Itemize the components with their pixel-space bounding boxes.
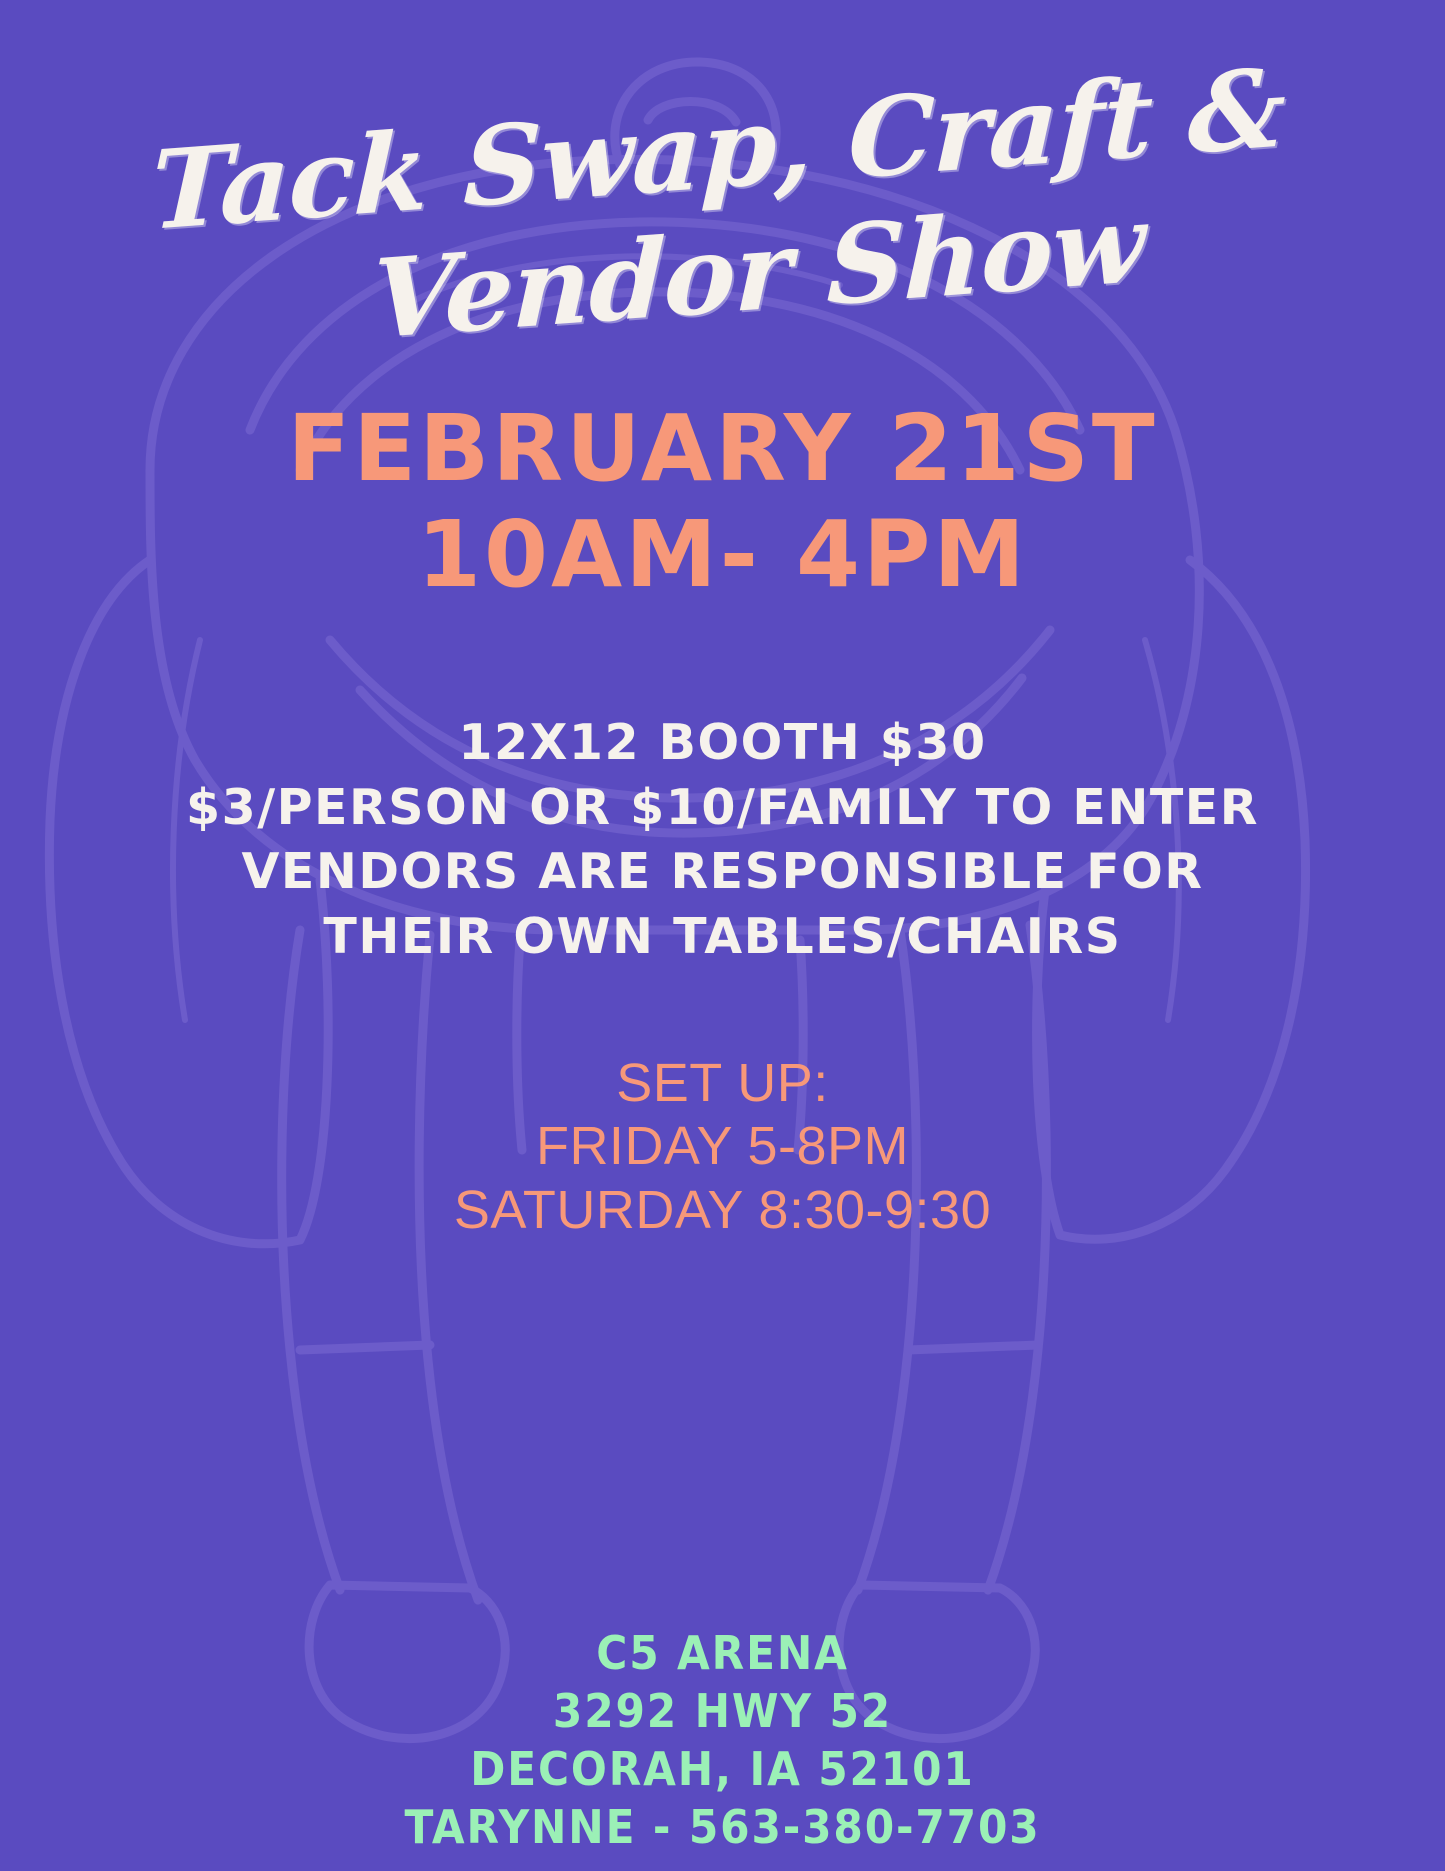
contact-block: C5 ARENA 3292 HWY 52 DECORAH, IA 52101 T… [0,1625,1445,1857]
contact-phone[interactable]: TARYNNE - 563-380-7703 [58,1799,1387,1857]
event-time: 10AM- 4PM [287,506,1157,604]
contact-city-state-zip: DECORAH, IA 52101 [58,1741,1387,1799]
contact-street: 3292 HWY 52 [58,1683,1387,1741]
flyer-root: Tack Swap, Craft & Vendor Show FEBRUARY … [0,0,1445,1871]
setup-saturday: SATURDAY 8:30-9:30 [454,1179,991,1243]
event-date: FEBRUARY 21ST [287,400,1157,498]
detail-line-booth-price: 12X12 BOOTH $30 [186,711,1259,776]
detail-line-vendor-responsibility-1: VENDORS ARE RESPONSIBLE FOR [186,840,1259,905]
setup-heading: SET UP: [454,1052,991,1116]
detail-line-entry-price: $3/PERSON OR $10/FAMILY TO ENTER [186,776,1259,841]
title-block: Tack Swap, Craft & Vendor Show [143,96,1303,326]
setup-block: SET UP: FRIDAY 5-8PM SATURDAY 8:30-9:30 [454,1052,991,1243]
details-block: 12X12 BOOTH $30 $3/PERSON OR $10/FAMILY … [186,711,1259,970]
detail-line-vendor-responsibility-2: THEIR OWN TABLES/CHAIRS [186,905,1259,970]
setup-friday: FRIDAY 5-8PM [454,1115,991,1179]
contact-venue: C5 ARENA [58,1625,1387,1683]
date-time-block: FEBRUARY 21ST 10AM- 4PM [287,400,1157,603]
